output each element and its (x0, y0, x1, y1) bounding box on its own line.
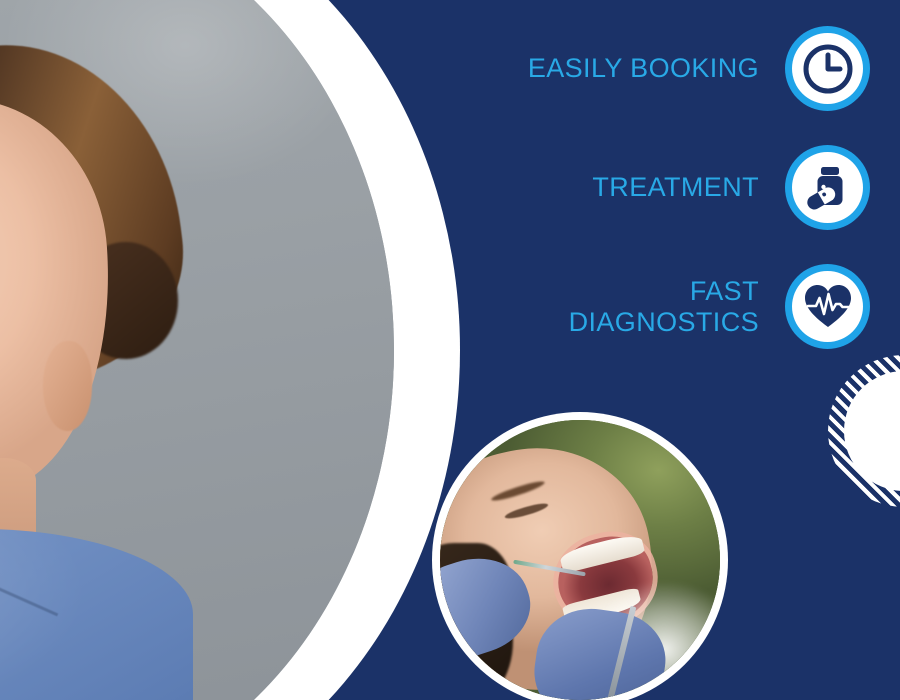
hero-photo (0, 0, 394, 700)
feature-label-fast-diagnostics: FAST DIAGNOSTICS (569, 276, 759, 336)
feature-item-fast-diagnostics[interactable]: FAST DIAGNOSTICS (440, 264, 870, 349)
dental-clinic-banner: EASILY BOOKING TREATMENT (0, 0, 900, 700)
clock-icon (785, 26, 870, 111)
heart-pulse-icon-disc (792, 271, 863, 342)
feature-list: EASILY BOOKING TREATMENT (440, 26, 870, 383)
portrait-scrubs (0, 529, 193, 700)
clock-icon-disc (792, 33, 863, 104)
feature-label-easily-booking: EASILY BOOKING (528, 53, 759, 83)
feature-item-treatment[interactable]: TREATMENT (440, 145, 870, 230)
portrait-ear (43, 341, 91, 431)
feature-label-treatment: TREATMENT (592, 172, 759, 202)
pill-bottle-icon-disc (792, 152, 863, 223)
inset-dental-photo (440, 420, 720, 700)
pill-bottle-icon (785, 145, 870, 230)
feature-item-easily-booking[interactable]: EASILY BOOKING (440, 26, 870, 111)
heart-pulse-icon (785, 264, 870, 349)
portrait-image (0, 0, 394, 700)
